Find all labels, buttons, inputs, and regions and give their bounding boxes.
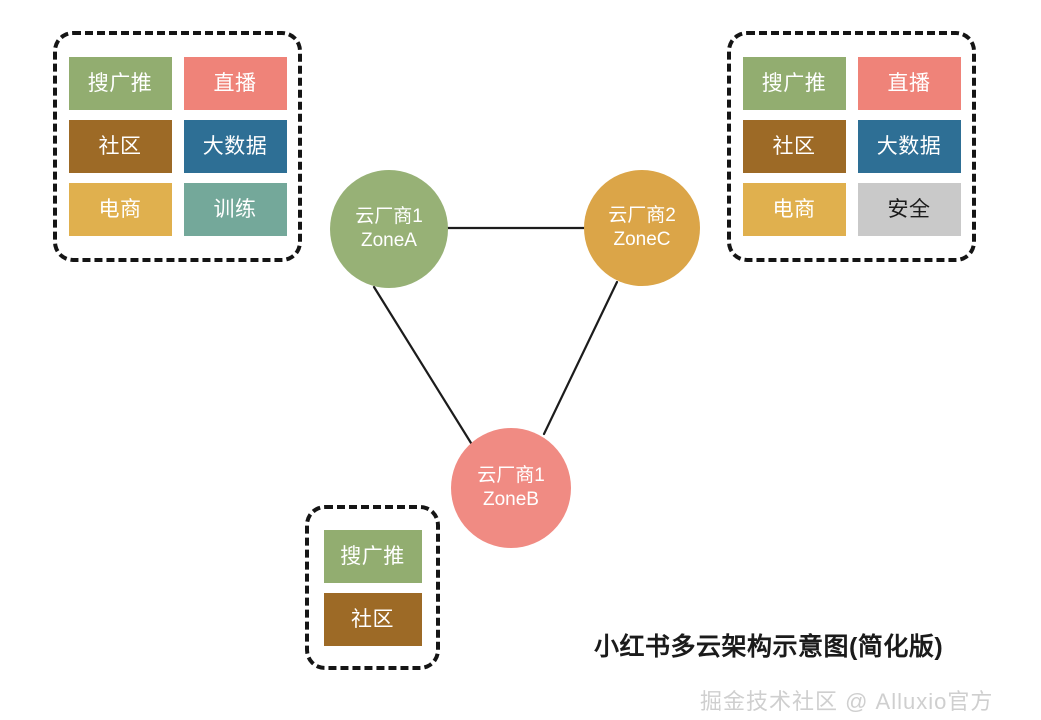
service-tile[interactable]: 训练 (184, 183, 287, 236)
service-tile[interactable]: 直播 (858, 57, 961, 110)
node-label-primary: 云厂商1 (355, 205, 423, 229)
zonec-services-grid: 搜广推直播社区大数据电商安全 (743, 57, 961, 236)
diagram-canvas: 搜广推直播社区大数据电商训练搜广推直播社区大数据电商安全搜广推社区 云厂商1Zo… (0, 0, 1041, 720)
zonea-services-grid: 搜广推直播社区大数据电商训练 (69, 57, 287, 236)
diagram-caption: 小红书多云架构示意图(简化版) (594, 627, 943, 663)
node-label-primary: 云厂商2 (608, 204, 676, 228)
zonec-services: 搜广推直播社区大数据电商安全 (727, 31, 976, 262)
link-zonea-zoneb (374, 287, 471, 443)
cloud-node-zonec[interactable]: 云厂商2ZoneC (584, 170, 700, 286)
service-tile[interactable]: 搜广推 (324, 530, 422, 583)
cloud-node-zoneb[interactable]: 云厂商1ZoneB (451, 428, 571, 548)
service-tile[interactable]: 直播 (184, 57, 287, 110)
node-label-zone: ZoneB (483, 488, 539, 512)
service-tile[interactable]: 搜广推 (69, 57, 172, 110)
service-tile[interactable]: 安全 (858, 183, 961, 236)
node-label-zone: ZoneA (361, 229, 417, 253)
zoneb-services-grid: 搜广推社区 (324, 530, 422, 646)
service-tile[interactable]: 电商 (69, 183, 172, 236)
service-tile[interactable]: 搜广推 (743, 57, 846, 110)
zonea-services: 搜广推直播社区大数据电商训练 (53, 31, 302, 262)
service-tile[interactable]: 大数据 (858, 120, 961, 173)
node-label-zone: ZoneC (613, 228, 670, 252)
node-label-primary: 云厂商1 (477, 464, 545, 488)
service-tile[interactable]: 电商 (743, 183, 846, 236)
link-zonec-zoneb (544, 282, 617, 434)
watermark-label: 掘金技术社区 @ Alluxio官方 (700, 684, 993, 716)
zoneb-services: 搜广推社区 (305, 505, 440, 670)
service-tile[interactable]: 社区 (324, 593, 422, 646)
service-tile[interactable]: 社区 (743, 120, 846, 173)
cloud-node-zonea[interactable]: 云厂商1ZoneA (330, 170, 448, 288)
service-tile[interactable]: 社区 (69, 120, 172, 173)
service-tile[interactable]: 大数据 (184, 120, 287, 173)
